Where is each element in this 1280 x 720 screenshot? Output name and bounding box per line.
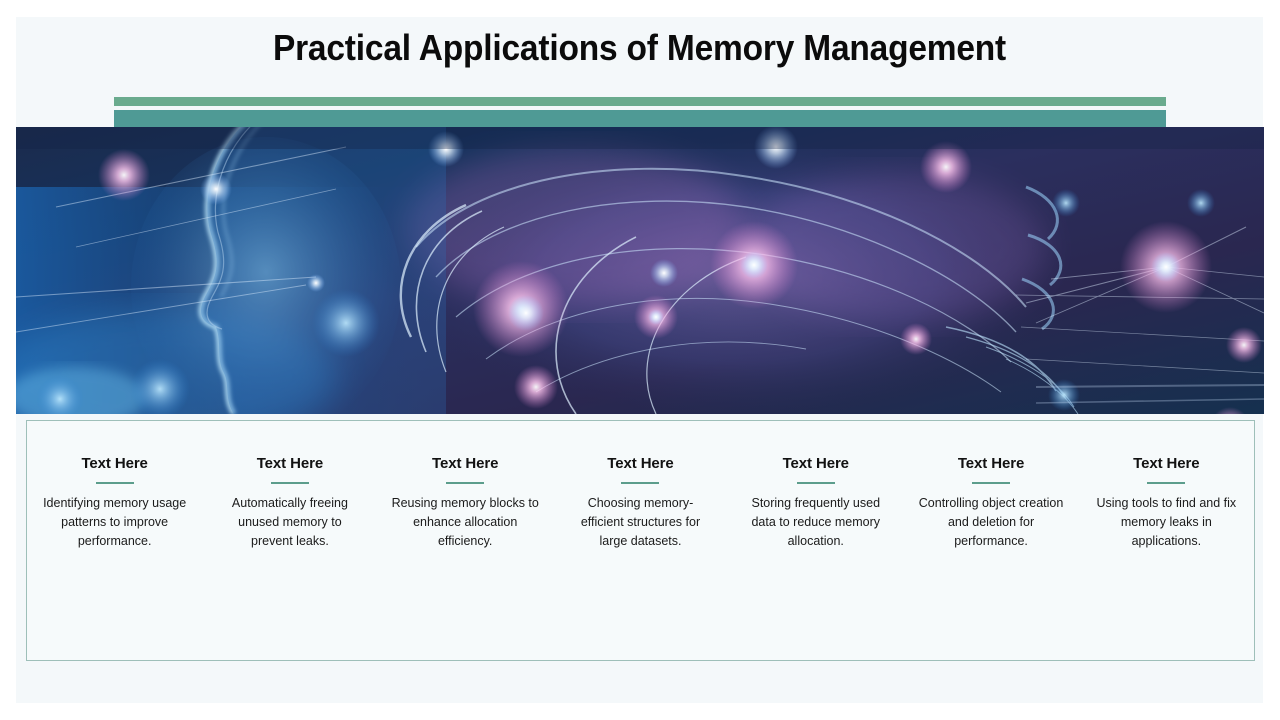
accent-bar-top bbox=[114, 97, 1166, 106]
card-7[interactable]: Text Here Using tools to find and fix me… bbox=[1079, 421, 1254, 660]
card-body: Using tools to find and fix memory leaks… bbox=[1092, 494, 1240, 551]
card-body: Automatically freeing unused memory to p… bbox=[216, 494, 364, 551]
card-1[interactable]: Text Here Identifying memory usage patte… bbox=[27, 421, 202, 660]
cards-container: Text Here Identifying memory usage patte… bbox=[26, 420, 1255, 661]
card-body: Identifying memory usage patterns to imp… bbox=[41, 494, 189, 551]
card-divider bbox=[271, 482, 309, 484]
card-2[interactable]: Text Here Automatically freeing unused m… bbox=[202, 421, 377, 660]
card-divider bbox=[1147, 482, 1185, 484]
card-4[interactable]: Text Here Choosing memory-efficient stru… bbox=[553, 421, 728, 660]
card-body: Storing frequently used data to reduce m… bbox=[742, 494, 890, 551]
card-divider bbox=[446, 482, 484, 484]
card-divider bbox=[797, 482, 835, 484]
card-title: Text Here bbox=[37, 455, 192, 473]
card-title: Text Here bbox=[212, 455, 367, 473]
card-5[interactable]: Text Here Storing frequently used data t… bbox=[728, 421, 903, 660]
card-divider bbox=[96, 482, 134, 484]
card-divider bbox=[621, 482, 659, 484]
card-title: Text Here bbox=[563, 455, 718, 473]
card-3[interactable]: Text Here Reusing memory blocks to enhan… bbox=[378, 421, 553, 660]
card-title: Text Here bbox=[1089, 455, 1244, 473]
card-title: Text Here bbox=[738, 455, 893, 473]
card-6[interactable]: Text Here Controlling object creation an… bbox=[903, 421, 1078, 660]
brain-network-graphic bbox=[16, 127, 1264, 414]
slide-canvas: Practical Applications of Memory Managem… bbox=[16, 17, 1263, 703]
accent-bar-bottom bbox=[114, 110, 1166, 128]
card-divider bbox=[972, 482, 1010, 484]
card-body: Controlling object creation and deletion… bbox=[917, 494, 1065, 551]
card-title: Text Here bbox=[388, 455, 543, 473]
page-title: Practical Applications of Memory Managem… bbox=[60, 22, 1220, 74]
card-body: Choosing memory-efficient structures for… bbox=[566, 494, 714, 551]
hero-brain-image bbox=[16, 127, 1264, 414]
card-title: Text Here bbox=[913, 455, 1068, 473]
card-body: Reusing memory blocks to enhance allocat… bbox=[391, 494, 539, 551]
